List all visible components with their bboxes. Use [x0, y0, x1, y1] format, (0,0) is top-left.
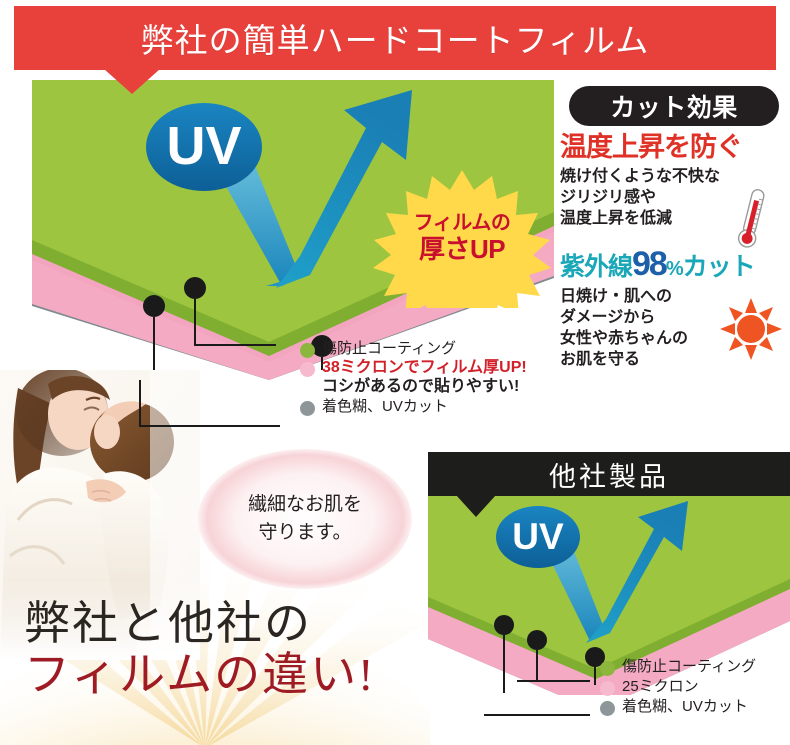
infographic-canvas: 弊社の簡単ハードコートフィルム: [0, 0, 790, 745]
thickness-burst-icon: [368, 168, 556, 308]
cut-effect-badge-label: カット効果: [610, 88, 738, 124]
pink-dot-icon: [300, 362, 315, 377]
heat-headline: 温度上昇を防ぐ: [560, 132, 788, 162]
bottom-headline: 弊社と他社の フィルムの違い!: [24, 600, 424, 700]
svg-text:UV: UV: [166, 116, 241, 176]
info-panel: カット効果 温度上昇を防ぐ 焼け付くような不快な ジリジリ感や 温度上昇を低減: [560, 86, 788, 370]
competitor-dot-pink: [527, 630, 547, 650]
cut-effect-badge: カット効果: [569, 86, 779, 126]
competitor-leader-lines-extension: [420, 665, 620, 745]
header-title: 弊社の簡単ハードコートフィルム: [141, 14, 650, 62]
legend-item-adhesive: 着色糊、UVカット: [300, 398, 560, 416]
legend-label-coating: 傷防止コーティング: [322, 340, 456, 358]
thermometer-icon: [735, 186, 769, 252]
competitor-legend-label-thickness: 25ミクロン: [622, 678, 699, 697]
main-legend: 傷防止コーティング 38ミクロンでフィルム厚UP! コシがあるので貼りやすい! …: [300, 340, 560, 417]
legend-item-coating: 傷防止コーティング: [300, 340, 560, 358]
green-dot-icon: [300, 343, 315, 358]
sun-icon: [720, 298, 782, 360]
uv-headline-suffix: カット: [683, 254, 755, 282]
callout-dot-pink: [184, 277, 206, 299]
competitor-legend-item-coating: 傷防止コーティング: [600, 658, 790, 677]
uv-headline-number: 98: [632, 246, 666, 283]
legend-label-stiffness: コシがあるので貼りやすい!: [322, 378, 527, 397]
competitor-legend-label-coating: 傷防止コーティング: [622, 658, 756, 677]
header-banner-notch: [104, 69, 160, 94]
competitor-header-notch: [456, 495, 496, 517]
svg-text:UV: UV: [512, 516, 564, 557]
callout-dot-adhesive: [143, 295, 165, 317]
competitor-legend: 傷防止コーティング 25ミクロン 着色糊、UVカット: [600, 658, 790, 717]
bottom-headline-line-2: フィルムの違い!: [24, 650, 424, 700]
heat-body-line-1: 焼け付くような不快な: [560, 166, 788, 187]
competitor-header-label: 他社製品: [549, 455, 669, 494]
competitor-legend-item-adhesive: 着色糊、UVカット: [600, 698, 790, 717]
competitor-header: 他社製品: [428, 452, 790, 496]
competitor-legend-label-adhesive: 着色糊、UVカット: [622, 698, 748, 717]
bottom-headline-line-1: 弊社と他社の: [24, 600, 424, 648]
legend-label-adhesive: 着色糊、UVカット: [322, 398, 448, 416]
uv-headline-prefix: 紫外線: [560, 254, 632, 282]
header-banner: 弊社の簡単ハードコートフィルム: [14, 6, 776, 70]
gray-dot-icon: [300, 401, 315, 416]
uv-headline-percent: %: [666, 258, 683, 280]
legend-item-thickness: 38ミクロンでフィルム厚UP! コシがあるので貼りやすい!: [300, 359, 560, 397]
competitor-dot-adhesive: [494, 615, 514, 635]
legend-label-thickness: 38ミクロンでフィルム厚UP!: [322, 359, 527, 378]
skin-protection-bubble: [196, 448, 414, 590]
competitor-legend-item-thickness: 25ミクロン: [600, 678, 790, 697]
